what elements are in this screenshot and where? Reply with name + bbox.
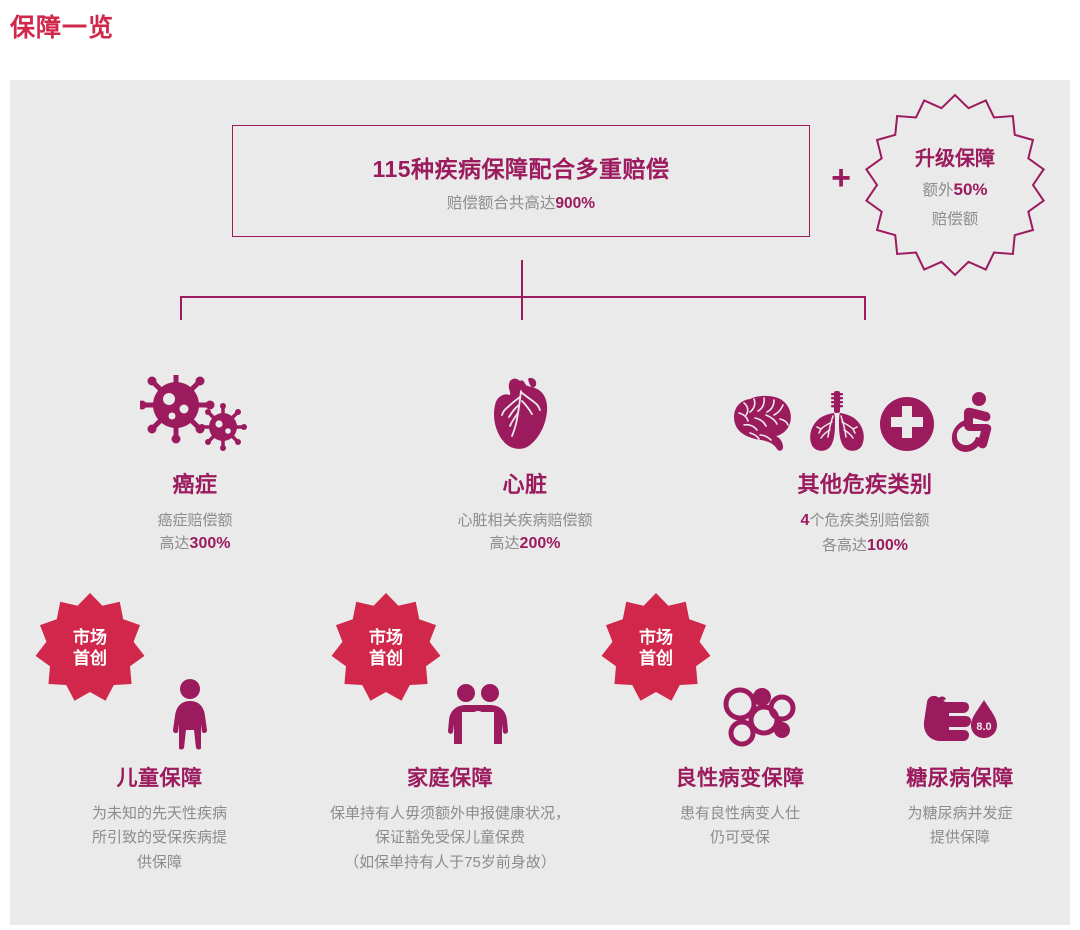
category-other-subtext: 4个危疾类别赔偿额 各高达100%: [700, 509, 1030, 559]
category-cancer-sub-line1: 癌症赔偿额: [65, 509, 325, 532]
child-icon-wrap: [22, 655, 297, 750]
category-heart-sub-line1: 心脏相关疾病赔偿额: [400, 509, 650, 532]
category-cancer-sub-value: 300%: [190, 535, 231, 552]
category-heart: 心脏 心脏相关疾病赔偿额 高达200%: [400, 375, 650, 557]
main-coverage-sub-value: 900%: [555, 195, 595, 212]
category-other-sub-prefix: 各高达: [822, 537, 867, 554]
category-other-sub-line2: 各高达100%: [700, 534, 1030, 559]
benefit-family-desc-line: （如保单持有人于75岁前身故）: [280, 851, 620, 875]
benefit-benign: 良性病变保障 患有良性病变人仕 仍可受保: [610, 655, 870, 851]
category-heart-sub-line2: 高达200%: [400, 532, 650, 557]
connector-tree: [0, 230, 1080, 320]
category-other-sub-value: 100%: [867, 537, 908, 554]
benefit-family-title: 家庭保障: [280, 762, 620, 792]
category-cancer-subtext: 癌症赔偿额 高达300%: [65, 509, 325, 557]
category-other-sub-line1: 4个危疾类别赔偿额: [700, 509, 1030, 534]
benefit-diabetes-title: 糖尿病保障: [855, 762, 1065, 792]
infographic-page: 保障一览 115种疾病保障配合多重赔偿 赔偿额合共高达900% + 升级保障 额…: [0, 0, 1080, 930]
category-cancer-title: 癌症: [65, 467, 325, 499]
lungs-icon: [806, 389, 868, 453]
category-cancer-sub-prefix: 高达: [160, 535, 190, 552]
glucose-value: 8.0: [976, 721, 991, 733]
benefit-child-title: 儿童保障: [22, 762, 297, 792]
benefit-family-desc: 保单持有人毋须额外申报健康状况， 保证豁免受保儿童保费 （如保单持有人于75岁前…: [280, 802, 620, 875]
main-coverage-headline: 115种疾病保障配合多重赔偿: [372, 150, 669, 184]
benign-icon-wrap: [610, 655, 870, 750]
main-coverage-sub-prefix: 赔偿额合共高达: [447, 195, 556, 212]
category-heart-subtext: 心脏相关疾病赔偿额 高达200%: [400, 509, 650, 557]
benefit-child-desc-line: 为未知的先天性疾病: [22, 802, 297, 826]
child-figure-icon: [167, 678, 213, 750]
benefit-benign-desc-line: 患有良性病变人仕: [610, 802, 870, 826]
family-icon-wrap: [280, 655, 620, 750]
other-icon-group: [700, 375, 1030, 453]
hand-blood-drop-icon: 8.0: [919, 692, 1001, 750]
diabetes-icon-wrap: 8.0: [855, 655, 1065, 750]
cell-cluster-icon: [720, 686, 800, 750]
category-cancer-sub-line2: 高达300%: [65, 532, 325, 557]
cancer-icon-group: [65, 375, 325, 453]
benefit-child-desc-line: 供保障: [22, 851, 297, 875]
benefit-diabetes: 8.0 糖尿病保障 为糖尿病并发症 提供保障: [855, 655, 1065, 851]
virus-icon: [140, 375, 250, 453]
category-other-sub-suffix: 个危疾类别赔偿额: [809, 512, 929, 529]
header: 保障一览: [0, 0, 1080, 80]
heart-icon-group: [400, 375, 650, 453]
category-other: 其他危疾类别 4个危疾类别赔偿额 各高达100%: [700, 375, 1030, 559]
benefit-benign-desc: 患有良性病变人仕 仍可受保: [610, 802, 870, 851]
category-cancer: 癌症 癌症赔偿额 高达300%: [65, 375, 325, 557]
main-coverage-subtext: 赔偿额合共高达900%: [447, 191, 595, 213]
plus-icon: +: [826, 163, 856, 193]
benefit-child-desc: 为未知的先天性疾病 所引致的受保疾病提 供保障: [22, 802, 297, 875]
family-figures-icon: [446, 682, 510, 750]
benefit-diabetes-desc: 为糖尿病并发症 提供保障: [855, 802, 1065, 851]
wheelchair-icon: [946, 391, 1000, 453]
category-other-title: 其他危疾类别: [700, 467, 1030, 499]
benefit-family: 家庭保障 保单持有人毋须额外申报健康状况， 保证豁免受保儿童保费 （如保单持有人…: [280, 655, 620, 875]
main-coverage-box: 115种疾病保障配合多重赔偿 赔偿额合共高达900%: [232, 125, 810, 237]
benefit-diabetes-desc-line: 为糖尿病并发症: [855, 802, 1065, 826]
benefit-benign-desc-line: 仍可受保: [610, 826, 870, 850]
benefit-family-desc-line: 保证豁免受保儿童保费: [280, 826, 620, 850]
category-heart-title: 心脏: [400, 467, 650, 499]
heart-anatomy-icon: [490, 375, 560, 453]
benefit-family-desc-line: 保单持有人毋须额外申报健康状况，: [280, 802, 620, 826]
benefit-diabetes-desc-line: 提供保障: [855, 826, 1065, 850]
category-heart-sub-value: 200%: [520, 535, 561, 552]
benefit-benign-title: 良性病变保障: [610, 762, 870, 792]
category-heart-sub-prefix: 高达: [490, 535, 520, 552]
page-title: 保障一览: [10, 8, 114, 44]
medical-cross-icon: [878, 395, 936, 453]
brain-icon: [730, 391, 796, 453]
benefit-child: 儿童保障 为未知的先天性疾病 所引致的受保疾病提 供保障: [22, 655, 297, 875]
benefit-child-desc-line: 所引致的受保疾病提: [22, 826, 297, 850]
